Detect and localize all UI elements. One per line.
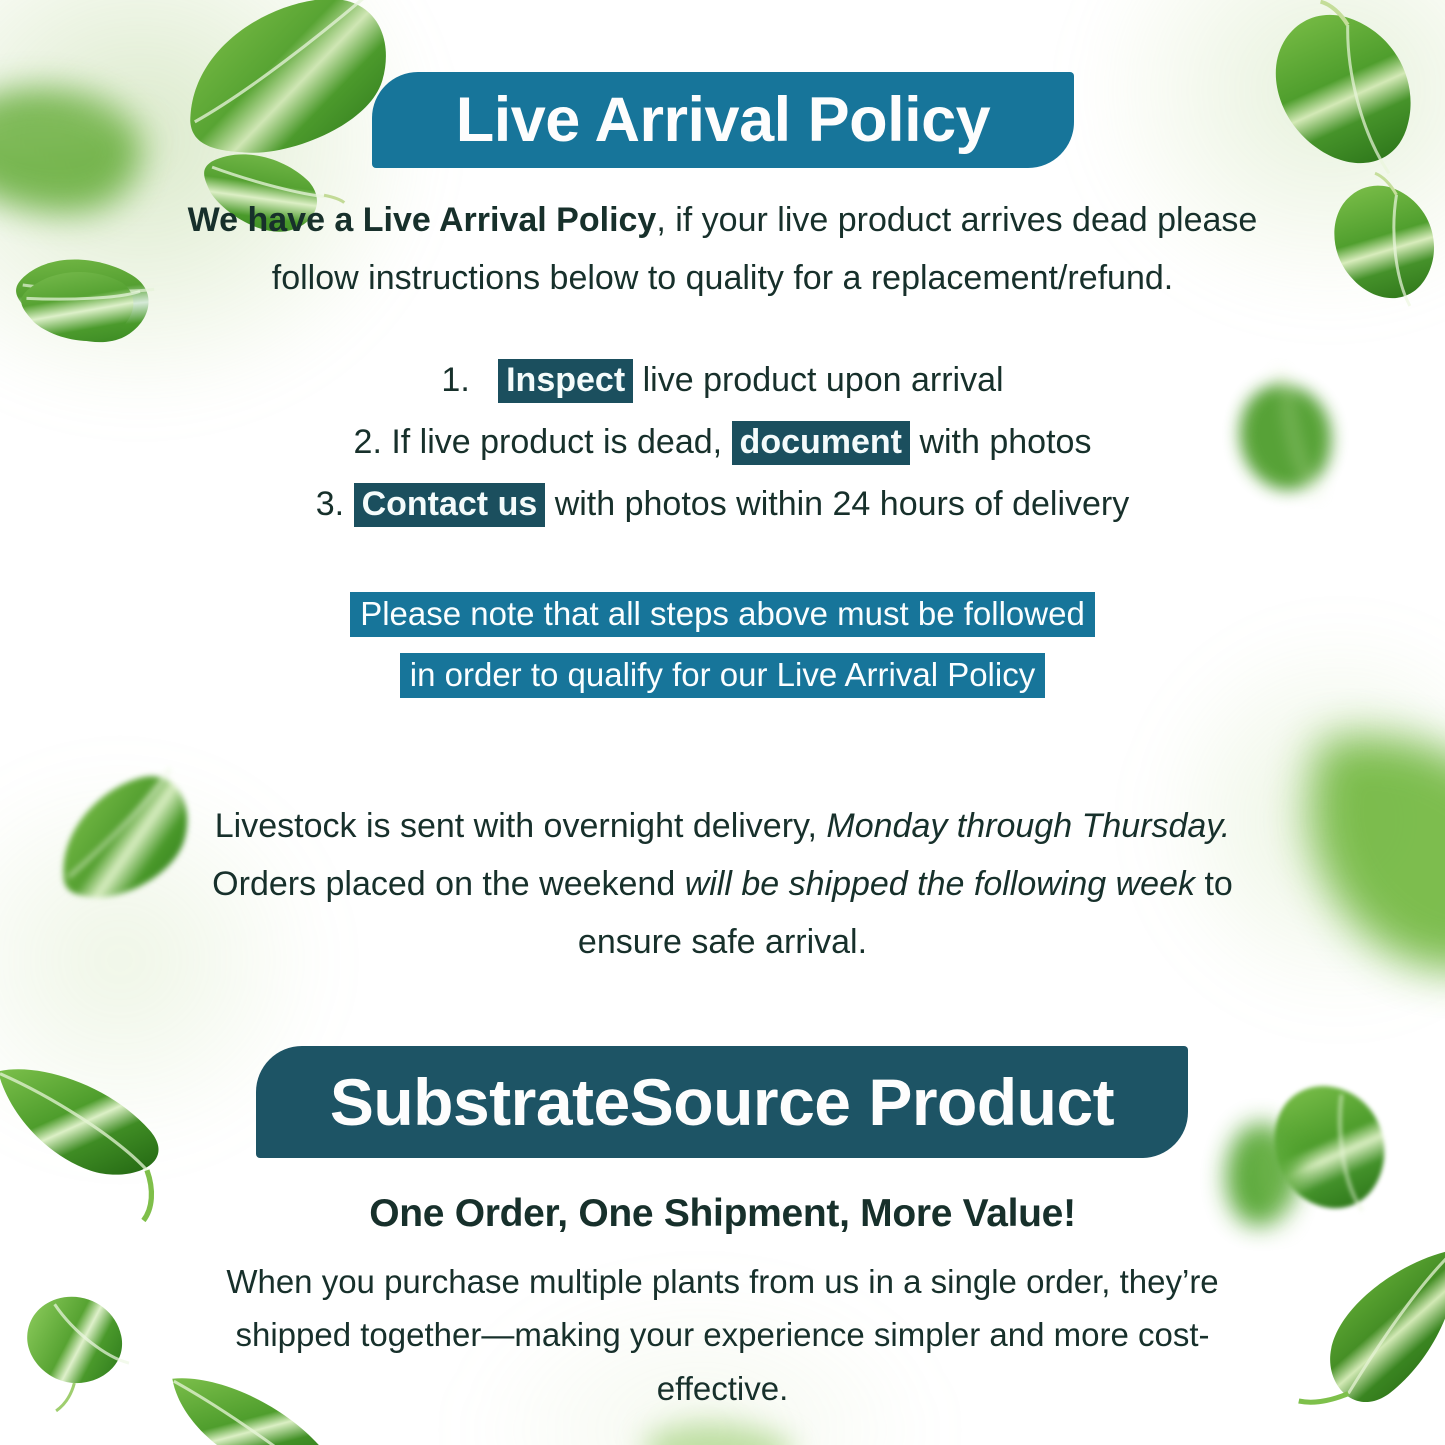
note-line-2: in order to qualify for our Live Arrival… [400,653,1045,698]
title-banner-label: Live Arrival Policy [456,84,990,156]
brand-banner-label: SubstrateSource Product [330,1064,1114,1140]
step-3-after: with photos within 24 hours of delivery [555,485,1130,523]
step-3-highlight: Contact us [354,483,546,527]
step-item-3: 3. Contact us with photos within 24 hour… [120,474,1325,536]
shipping-segment-3: Orders placed on the weekend [212,865,685,903]
step-1-highlight: Inspect [498,359,633,403]
steps-list: 1. Inspect live product upon arrival 2. … [120,350,1325,536]
live-arrival-policy-title-banner: Live Arrival Policy [372,72,1074,168]
shipping-paragraph: Livestock is sent with overnight deliver… [200,798,1245,971]
policy-note-block: Please note that all steps above must be… [120,583,1325,706]
note-line-1: Please note that all steps above must be… [350,592,1095,637]
step-3-number: 3. [316,485,344,523]
live-arrival-policy-infographic: Live Arrival Policy We have a Live Arriv… [0,0,1445,1445]
value-proposition-heading: One Order, One Shipment, More Value! [200,1192,1245,1236]
shipping-segment-4-italic: will be shipped the following week [685,865,1195,903]
step-item-2: 2. If live product is dead, document wit… [120,412,1325,474]
step-1-after: live product upon arrival [643,361,1004,399]
value-proposition-paragraph: When you purchase multiple plants from u… [170,1255,1275,1415]
step-2-before: If live product is dead, [391,423,722,461]
step-2-number: 2. [354,423,382,461]
shipping-segment-2-italic: Monday through Thursday. [826,807,1230,845]
intro-paragraph: We have a Live Arrival Policy, if your l… [150,192,1295,308]
note-line-2-wrapper: in order to qualify for our Live Arrival… [120,644,1325,705]
intro-bold-text: We have a Live Arrival Policy [188,201,657,239]
step-item-1: 1. Inspect live product upon arrival [120,350,1325,412]
shipping-segment-1: Livestock is sent with overnight deliver… [215,807,827,845]
step-2-highlight: document [732,421,910,465]
step-1-number: 1. [441,361,469,399]
step-2-after: with photos [919,423,1091,461]
substratesource-product-banner: SubstrateSource Product [256,1046,1188,1158]
note-line-1-wrapper: Please note that all steps above must be… [120,583,1325,644]
